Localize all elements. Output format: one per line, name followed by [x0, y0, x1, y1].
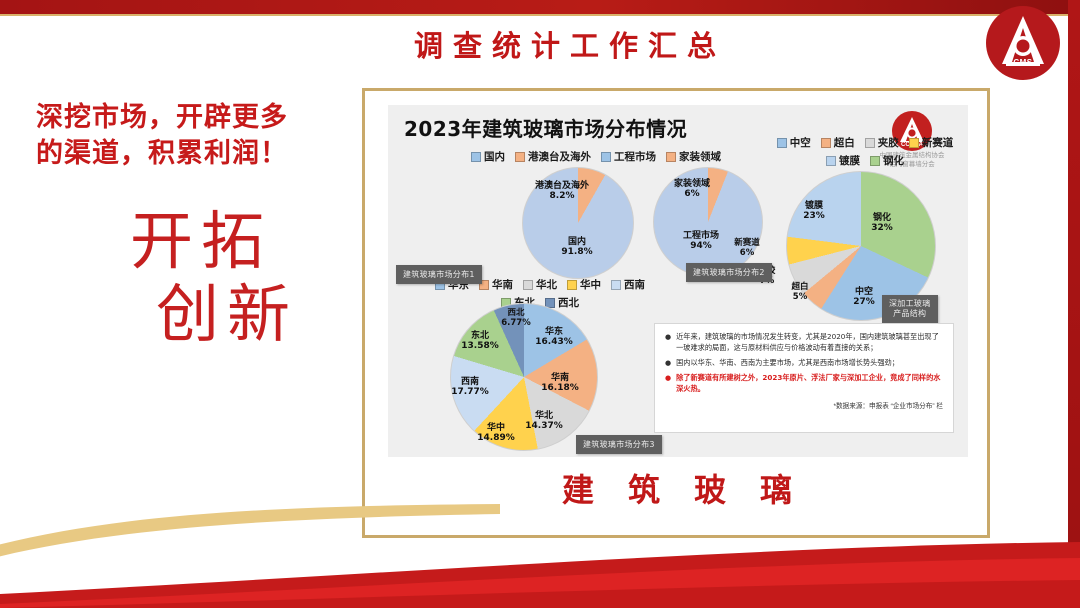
legend-label: 家装领域 — [679, 149, 721, 164]
legend-swatch — [826, 156, 836, 166]
legend-label: 国内 — [484, 149, 505, 164]
tag-product-structure: 深加工玻璃 产品结构 — [882, 295, 938, 323]
note-item: ● 国内以华东、华南、西南为主要市场，尤其是西南市场增长势头强劲； — [665, 358, 943, 369]
pie4-slice-label-huazhong: 华中 14.89% — [470, 423, 522, 444]
ccmsa-mark-icon — [986, 6, 1060, 80]
legend-swatch — [515, 152, 525, 162]
pie2-slice-label-home: 家装领域 6% — [666, 179, 718, 200]
bullet-icon: ● — [665, 373, 671, 395]
legend-label: 华中 — [580, 277, 601, 292]
big-keyword-line-1: 开拓 — [130, 205, 360, 278]
bullet-icon: ● — [665, 358, 671, 369]
legend-swatch — [567, 280, 577, 290]
legend-item-ganghua: 钢化 — [870, 153, 904, 168]
top-red-band — [0, 0, 1080, 14]
pie1-slice-label-overseas: 港澳台及海外 8.2% — [534, 181, 590, 202]
right-red-edge — [1068, 0, 1080, 608]
legend-item-huazhong: 华中 — [567, 277, 601, 292]
notes-box: ● 近年来，建筑玻璃的市场情况发生转变，尤其是2020年，国内建筑玻璃甚至出现了… — [654, 323, 954, 433]
legend-label: 镀膜 — [839, 153, 860, 168]
legend-swatch — [865, 138, 875, 148]
slogan-line-1: 深挖市场，开辟更多 — [36, 100, 366, 136]
legend-label: 超白 — [834, 135, 855, 150]
logo-text: CCMSA — [986, 58, 1060, 67]
pie4-slice-label-huanan: 华南 16.18% — [534, 373, 586, 394]
legend-item-chaobai: 超白 — [821, 135, 855, 150]
pie1-slice-label-domestic: 国内 91.8% — [546, 237, 608, 258]
pie4-slice-label-xibei: 西北 6.77% — [494, 309, 538, 329]
legend-item-haiwai: 港澳台及海外 — [515, 149, 591, 164]
legend-label: 新赛道 — [922, 135, 954, 150]
legend-item-huanan: 华南 — [479, 277, 513, 292]
legend-label: 夹胶 — [878, 135, 899, 150]
legend-label: 港澳台及海外 — [528, 149, 591, 164]
pie3-slice-label-chaobai: 超白 5% — [780, 283, 820, 303]
pie4-slice-label-huabei: 华北 14.37% — [518, 411, 570, 432]
legend-item-xinsaidao: 新赛道 — [909, 135, 954, 150]
pie3-slice-label-dumo: 镀膜 23% — [792, 201, 836, 222]
legend-swatch — [611, 280, 621, 290]
pie3-slice-label-ganghua: 钢化 32% — [858, 213, 906, 234]
pie2-slice-label-project: 工程市场 94% — [676, 231, 726, 252]
legend-label: 钢化 — [883, 153, 904, 168]
legend-top: 国内 港澳台及海外 工程市场 家装领域 — [446, 149, 746, 164]
legend-swatch — [666, 152, 676, 162]
pie4-slice-label-dongbei: 东北 13.58% — [452, 331, 508, 352]
legend-item-zhongkong: 中空 — [777, 135, 811, 150]
legend-products: 中空 超白 夹胶 新赛道 镀膜 — [776, 135, 954, 168]
legend-item-gongcheng: 工程市场 — [601, 149, 656, 164]
legend-swatch — [909, 138, 919, 148]
legend-swatch — [777, 138, 787, 148]
pie4-slice-label-xinan: 西南 17.77% — [442, 377, 498, 398]
bullet-icon: ● — [665, 332, 671, 354]
note-item: ● 近年来，建筑玻璃的市场情况发生转变，尤其是2020年，国内建筑玻璃甚至出现了… — [665, 332, 943, 354]
page-title: 调查统计工作汇总 — [360, 20, 780, 68]
legend-swatch — [870, 156, 880, 166]
legend-swatch — [471, 152, 481, 162]
legend-item-dumo: 镀膜 — [826, 153, 860, 168]
slogan-text: 深挖市场，开辟更多 的渠道，积累利润！ — [36, 100, 366, 173]
note-text: 除了新赛道有所建树之外，2023年原片、浮法厂家与深加工企业，竟成了同样的水深火… — [676, 373, 943, 395]
legend-item-xinan: 西南 — [611, 277, 645, 292]
ccmsa-logo: CCMSA — [986, 6, 1064, 84]
legend-swatch — [821, 138, 831, 148]
red-swoosh-decoration — [0, 536, 1080, 608]
tag-market-dist-3: 建筑玻璃市场分布3 — [576, 435, 662, 454]
pie3-slice-label-zhongkong: 中空 27% — [840, 287, 888, 308]
legend-swatch — [523, 280, 533, 290]
legend-label: 华北 — [536, 277, 557, 292]
chart-card: 2023年建筑玻璃市场分布情况 CCMSA 中国建筑金属结构协会 铝门窗幕墙分会 — [388, 105, 968, 457]
slide-canvas: 调查统计工作汇总 CCMSA 深挖市场，开辟更多 的渠道，积累利润！ 开拓 创新… — [0, 0, 1080, 608]
big-keyword: 开拓 创新 — [130, 205, 360, 351]
legend-label: 华南 — [492, 277, 513, 292]
note-text: 近年来，建筑玻璃的市场情况发生转变，尤其是2020年，国内建筑玻璃甚至出现了一玻… — [676, 332, 943, 354]
legend-item-jiazhuang: 家装领域 — [666, 149, 721, 164]
slogan-line-2: 的渠道，积累利润！ — [36, 136, 366, 172]
pie4-slice-label-huadong: 华东 16.43% — [528, 327, 580, 348]
legend-label: 西北 — [558, 295, 579, 310]
top-gold-rule — [0, 14, 1080, 16]
note-source: *数据来源：申报表 “企业市场分布” 栏 — [665, 400, 943, 410]
tag-market-dist-2: 建筑玻璃市场分布2 — [686, 263, 772, 282]
tag-market-dist-1: 建筑玻璃市场分布1 — [396, 265, 482, 284]
note-text: 国内以华东、华南、西南为主要市场，尤其是西南市场增长势头强劲； — [676, 358, 899, 369]
legend-label: 西南 — [624, 277, 645, 292]
pie3-slice-label-xinsaidao: 新赛道 6% — [724, 239, 770, 259]
legend-swatch — [601, 152, 611, 162]
note-item-highlight: ● 除了新赛道有所建树之外，2023年原片、浮法厂家与深加工企业，竟成了同样的水… — [665, 373, 943, 395]
chart-title: 2023年建筑玻璃市场分布情况 — [404, 113, 687, 142]
legend-item-jiajiao: 夹胶 — [865, 135, 899, 150]
legend-label: 中空 — [790, 135, 811, 150]
legend-item-huabei: 华北 — [523, 277, 557, 292]
legend-item-guonei: 国内 — [471, 149, 505, 164]
big-keyword-line-2: 创新 — [130, 278, 360, 351]
legend-label: 工程市场 — [614, 149, 656, 164]
